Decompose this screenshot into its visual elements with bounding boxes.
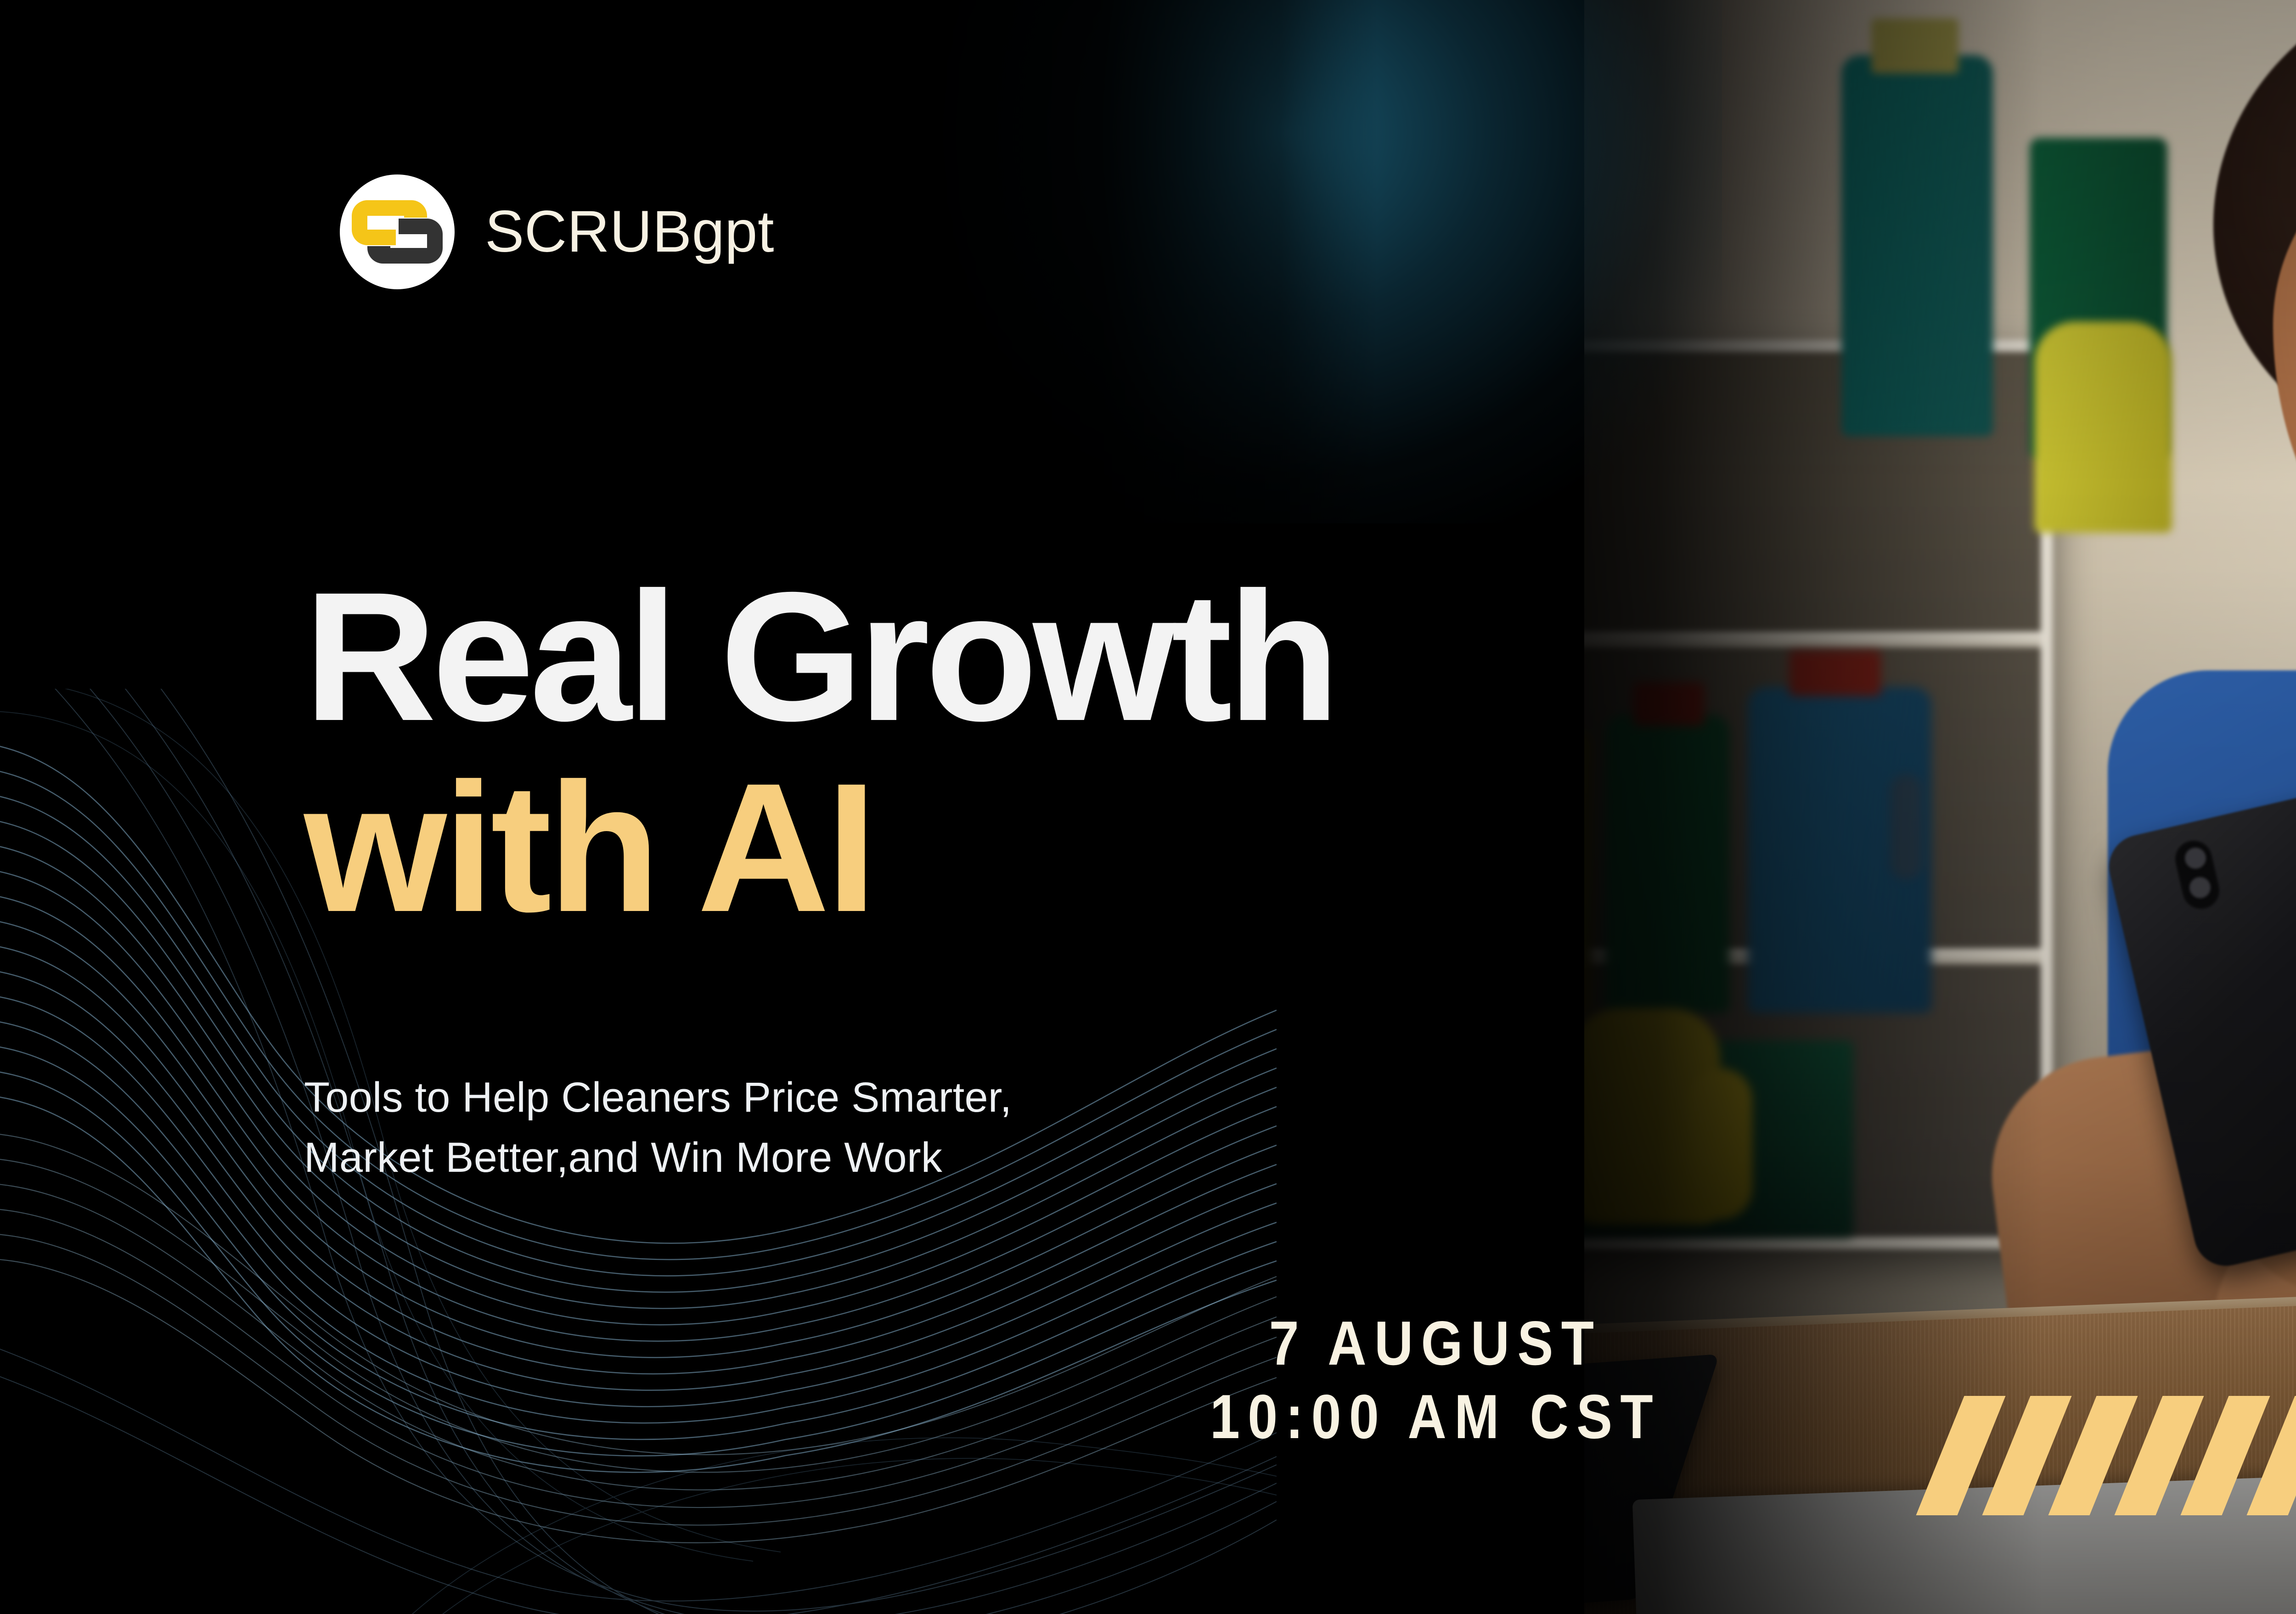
headline-line-1: Real Growth: [304, 569, 1335, 744]
event-time: 10:00 AM CST: [1210, 1380, 1661, 1453]
scrubgpt-logo-icon[interactable]: [340, 174, 455, 289]
page-title: Real Growth with AI: [304, 569, 1335, 935]
brand-name: SCRUBgpt: [485, 202, 774, 261]
event-date: 7 AUGUST: [1210, 1306, 1661, 1380]
headline-line-2: with AI: [304, 760, 1335, 935]
banner-content: SCRUBgpt Real Growth with AI Tools to He…: [0, 0, 2296, 1614]
promo-banner: SCRUBgpt Real Growth with AI Tools to He…: [0, 0, 2296, 1614]
brand-lockup[interactable]: SCRUBgpt: [340, 174, 774, 289]
diagonal-stripes-icon: [1940, 1396, 2296, 1515]
event-datetime: 7 AUGUST 10:00 AM CST: [1173, 1306, 1698, 1454]
subtitle: Tools to Help Cleaners Price Smarter, Ma…: [304, 1068, 1012, 1187]
